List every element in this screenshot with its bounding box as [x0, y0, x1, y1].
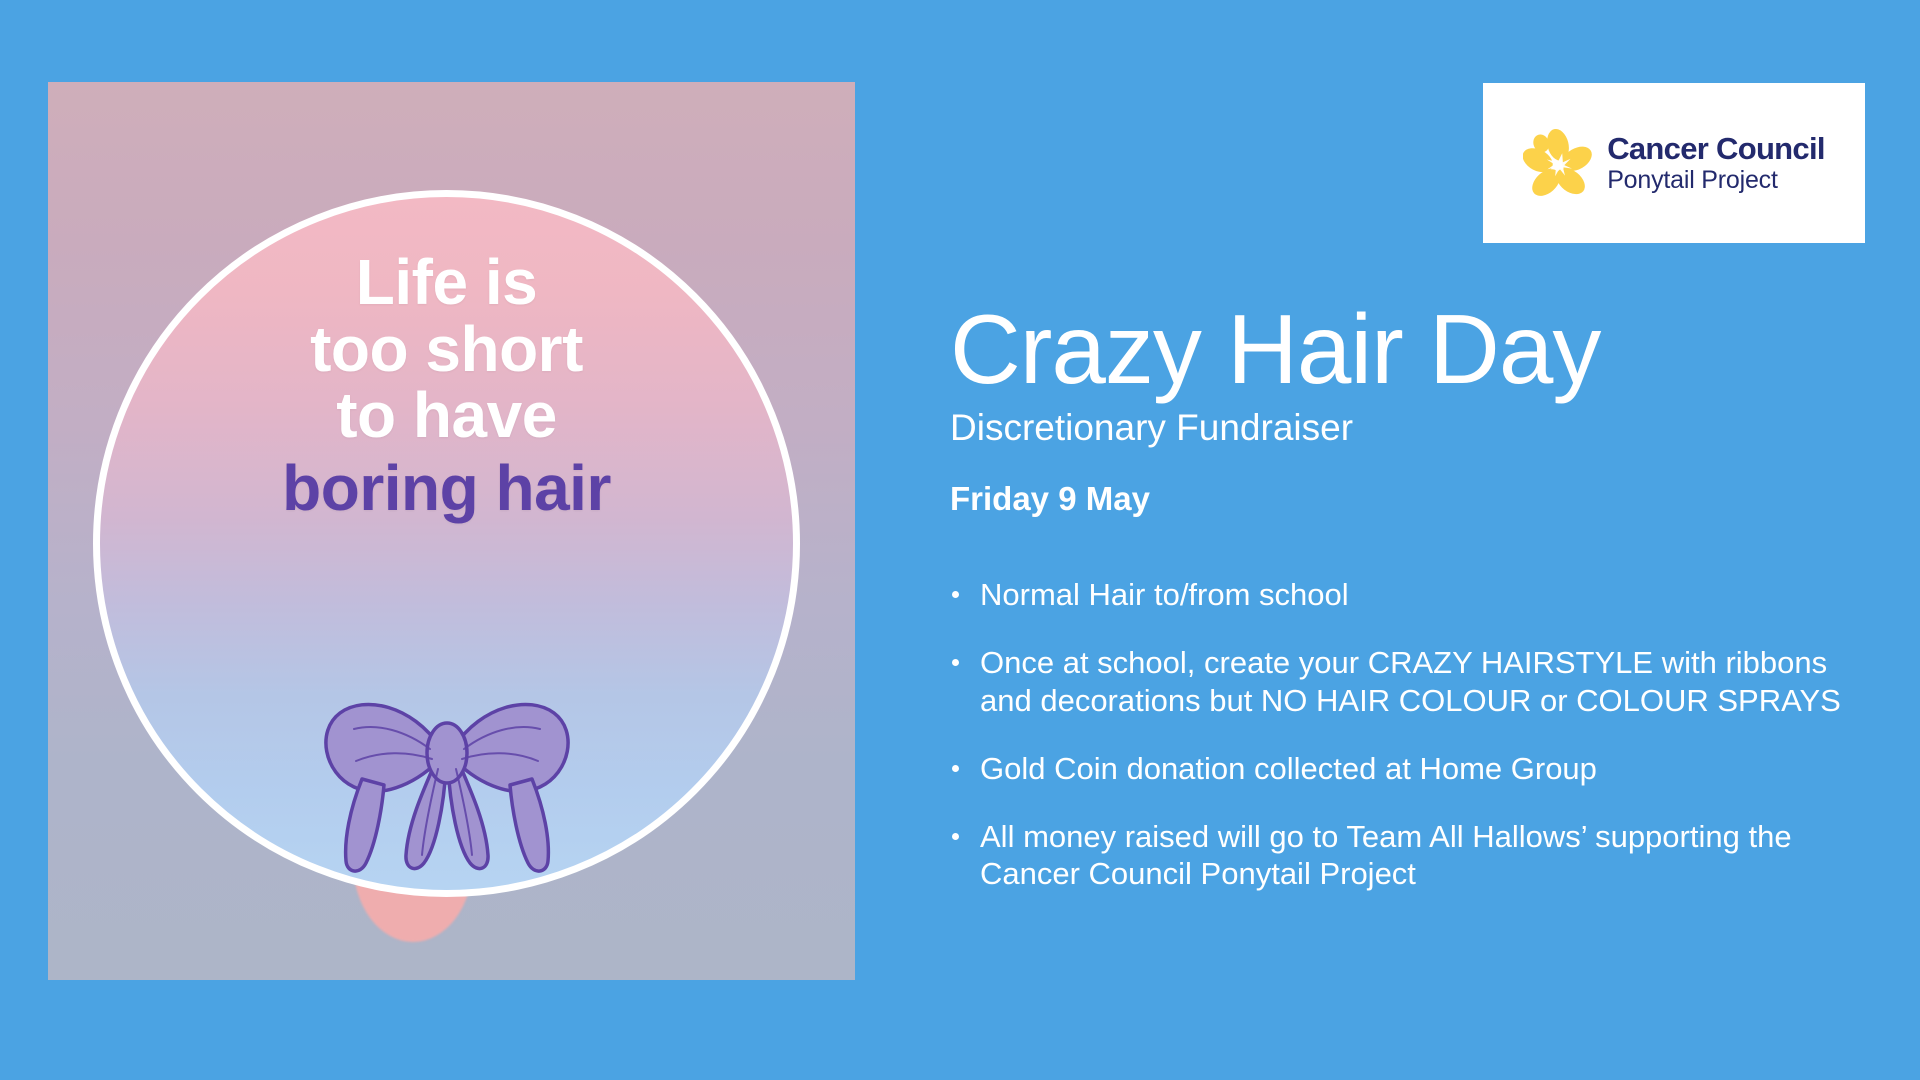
- list-item-text: All money raised will go to Team All Hal…: [980, 819, 1792, 892]
- list-item: Once at school, create your CRAZY HAIRST…: [950, 644, 1870, 720]
- logo-line-ponytail-project: Ponytail Project: [1607, 167, 1825, 193]
- list-item: All money raised will go to Team All Hal…: [950, 818, 1870, 894]
- slide-canvas: Life is too short to have boring hair: [0, 0, 1920, 1080]
- daffodil-icon: [1523, 128, 1593, 198]
- cancer-council-logo: Cancer Council Ponytail Project: [1483, 83, 1865, 243]
- promo-image-panel: Life is too short to have boring hair: [48, 82, 855, 980]
- quote-circle-graphic: Life is too short to have boring hair: [93, 190, 800, 897]
- page-title: Crazy Hair Day: [950, 300, 1870, 398]
- bullet-dot-icon: [952, 765, 959, 772]
- bullet-dot-icon: [952, 591, 959, 598]
- details-bullet-list: Normal Hair to/from school Once at schoo…: [950, 576, 1870, 893]
- ribbon-bow-icon: [302, 627, 592, 877]
- list-item: Gold Coin donation collected at Home Gro…: [950, 750, 1870, 788]
- event-date: Friday 9 May: [950, 480, 1870, 518]
- list-item-text: Normal Hair to/from school: [980, 577, 1349, 612]
- logo-line-cancer-council: Cancer Council: [1607, 133, 1825, 166]
- list-item: Normal Hair to/from school: [950, 576, 1870, 614]
- list-item-text: Once at school, create your CRAZY HAIRST…: [980, 645, 1841, 718]
- quote-line-4: boring hair: [100, 455, 793, 522]
- quote-text-block: Life is too short to have boring hair: [100, 249, 793, 521]
- quote-line-3: to have: [100, 382, 793, 449]
- bullet-dot-icon: [952, 833, 959, 840]
- logo-wordmark: Cancer Council Ponytail Project: [1607, 133, 1825, 194]
- content-column: Crazy Hair Day Discretionary Fundraiser …: [950, 300, 1870, 893]
- page-subtitle: Discretionary Fundraiser: [950, 406, 1870, 450]
- quote-line-2: too short: [100, 316, 793, 383]
- bullet-dot-icon: [952, 659, 959, 666]
- list-item-text: Gold Coin donation collected at Home Gro…: [980, 751, 1597, 786]
- quote-line-1: Life is: [100, 249, 793, 316]
